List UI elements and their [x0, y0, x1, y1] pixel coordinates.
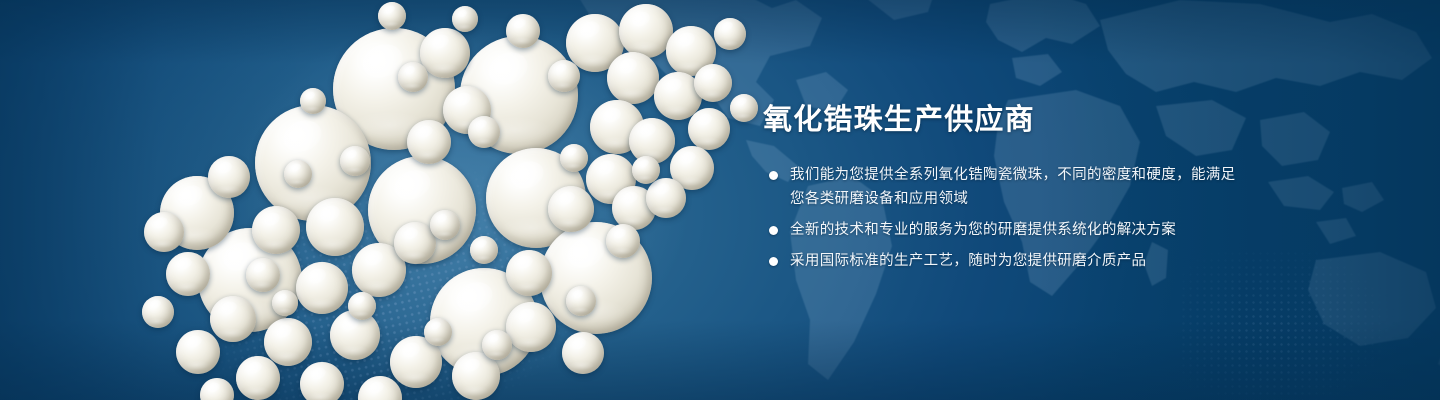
page-title: 氧化锆珠生产供应商 — [763, 104, 1242, 137]
feature-item-2-text: 全新的技术和专业的服务为您的研磨提供系统化的解决方案 — [790, 218, 1242, 242]
bullet-circle-icon — [769, 171, 778, 180]
bullet-circle-icon — [769, 257, 778, 266]
feature-list: 我们能为您提供全系列氧化锆陶瓷微珠，不同的密度和硬度，能满足您各类研磨设备和应用… — [762, 163, 1242, 273]
feature-item-3-text: 采用国际标准的生产工艺，随时为您提供研磨介质产品 — [790, 249, 1242, 273]
banner-text-block: 氧化锆珠生产供应商 我们能为您提供全系列氧化锆陶瓷微珠，不同的密度和硬度，能满足… — [762, 104, 1242, 273]
feature-item-2: 全新的技术和专业的服务为您的研磨提供系统化的解决方案 — [762, 218, 1242, 242]
feature-item-1-text: 我们能为您提供全系列氧化锆陶瓷微珠，不同的密度和硬度，能满足您各类研磨设备和应用… — [790, 163, 1242, 211]
bullet-circle-icon — [769, 226, 778, 235]
hero-banner: 氧化锆珠生产供应商 我们能为您提供全系列氧化锆陶瓷微珠，不同的密度和硬度，能满足… — [0, 0, 1440, 400]
feature-item-3: 采用国际标准的生产工艺，随时为您提供研磨介质产品 — [762, 249, 1242, 273]
feature-item-1: 我们能为您提供全系列氧化锆陶瓷微珠，不同的密度和硬度，能满足您各类研磨设备和应用… — [762, 163, 1242, 211]
